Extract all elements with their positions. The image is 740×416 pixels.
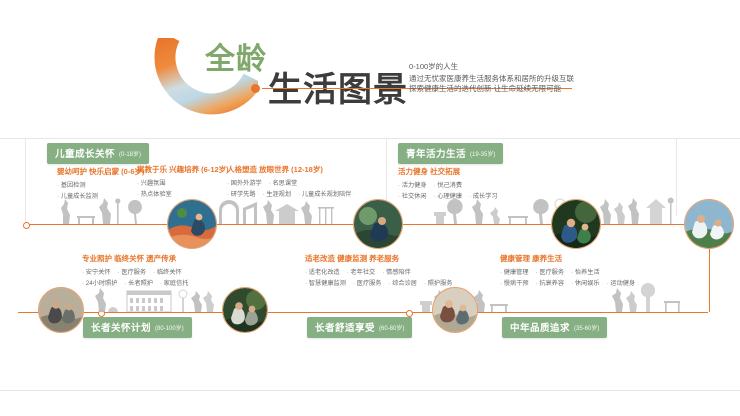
group-youth-fitness-heading: 活力健身 社交拓展	[398, 166, 505, 177]
bullet: 兴趣氛围	[137, 178, 166, 187]
bullet: 抗衰养容	[536, 278, 565, 287]
silhouette-care-building	[95, 283, 215, 312]
divider-bottom	[0, 390, 740, 391]
bullet: 怡养生活	[571, 267, 600, 276]
badge-elder-comfort-age: (60-80岁)	[379, 323, 404, 332]
silhouette-playground	[217, 198, 337, 224]
badge-youth[interactable]: 青年活力生活 (19-35岁)	[398, 143, 503, 164]
bullet: 活力健身	[398, 180, 427, 189]
badge-midlife-age: (35-60岁)	[574, 323, 599, 332]
bullet: 名思课堂	[269, 178, 298, 187]
silhouette-park-left	[55, 196, 150, 224]
bullet: 研学先路	[227, 189, 256, 198]
bullet: 老年社交	[347, 267, 376, 276]
group-elder-comfort-heading: 适老改造 健康监测 养老服务	[305, 253, 460, 264]
bullet: 情感陪伴	[382, 267, 411, 276]
bullet: 基因检测	[57, 180, 86, 189]
subtitle-line-2: 通过无忧家医康养生活服务体系和居所的升级互联	[409, 74, 639, 85]
bullet: 医疗服务	[118, 267, 147, 276]
bullet: 悦己消费	[434, 180, 463, 189]
photo-couple-run[interactable]	[684, 199, 734, 249]
timeline-node-top-left	[23, 222, 30, 229]
silhouette-midlife-group	[600, 194, 678, 224]
group-children-interest: 寓教于乐 兴趣培养 (6-12岁) 兴趣氛围 热点体验室	[137, 164, 229, 200]
badge-elder-comfort[interactable]: 长者舒适享受 (60-80岁)	[307, 317, 412, 338]
badge-elder-care-age: (80-100岁)	[155, 323, 184, 332]
divider-top	[0, 138, 740, 139]
photo-family-park[interactable]	[551, 199, 601, 249]
group-children-worldview-heading: 人格塑造 放眼世界 (12-18岁)	[227, 164, 358, 175]
timeline-bottom	[18, 312, 708, 313]
bullet: 安宁关怀	[82, 267, 111, 276]
page-title: 全龄 生活图景	[205, 44, 405, 124]
bullet: 国外外游学	[227, 178, 262, 187]
title-primary: 全龄	[205, 44, 267, 76]
badge-children-label: 儿童成长关怀	[55, 146, 115, 160]
infographic-canvas: 全龄 生活图景 0-100岁的人生 通过无忧家医康养生活服务体系和居所的升级互联…	[0, 0, 740, 416]
badge-children-age: (0-18岁)	[119, 149, 141, 158]
badge-elder-care-label: 长者关怀计划	[91, 320, 151, 334]
bullet: 健康管理	[500, 267, 529, 276]
badge-elder-care[interactable]: 长者关怀计划 (80-100岁)	[83, 317, 192, 338]
photo-youth-outdoor[interactable]	[353, 199, 403, 249]
bullet: 智慧健康监测	[305, 278, 346, 287]
badge-midlife[interactable]: 中年品质追求 (35-60岁)	[502, 317, 607, 338]
bullet: 生涯规划	[263, 189, 292, 198]
subtitle-line-3: 探索健康生活的迭代创新 让生命延续无限可能	[409, 84, 639, 95]
frame-line-left	[25, 138, 26, 228]
badge-children[interactable]: 儿童成长关怀 (0-18岁)	[47, 143, 149, 164]
group-children-infant-heading: 婴幼呵护 快乐启蒙 (0-6岁)	[57, 166, 145, 177]
bullet: 临终关怀	[153, 267, 182, 276]
title-secondary: 生活图景	[268, 71, 408, 109]
badge-youth-label: 青年活力生活	[406, 146, 466, 160]
group-elder-care-heading: 专业照护 临终关怀 遗产传承	[82, 253, 195, 264]
bullet: 综合诊居	[388, 278, 417, 287]
bullet: 社交休闲	[398, 191, 427, 200]
subtitle-block: 0-100岁的人生 通过无忧家医康养生活服务体系和居所的升级互联 探索健康生活的…	[409, 62, 639, 95]
bullet: 医疗服务	[353, 278, 382, 287]
group-midlife-heading: 健康管理 康养生活	[500, 253, 642, 264]
photo-elder-comfort-pic[interactable]	[432, 287, 478, 333]
bullet: 医疗服务	[536, 267, 565, 276]
badge-elder-comfort-label: 长者舒适享受	[315, 320, 375, 334]
timeline-node-bottom-b	[406, 310, 413, 317]
group-children-worldview: 人格塑造 放眼世界 (12-18岁) 国外外游学 名思课堂 研学先路 生涯规划 …	[227, 164, 358, 200]
photo-elder-garden[interactable]	[222, 287, 268, 333]
photo-child-play[interactable]	[167, 199, 217, 249]
group-children-interest-heading: 寓教于乐 兴趣培养 (6-12岁)	[137, 164, 229, 175]
timeline-connector-right	[709, 249, 710, 312]
badge-midlife-label: 中年品质追求	[510, 320, 570, 334]
bullet: 儿童成长规划陪伴	[298, 189, 351, 198]
bullet: 休闲娱乐	[571, 278, 600, 287]
subtitle-line-1: 0-100岁的人生	[409, 62, 639, 73]
bullet: 适老化改造	[305, 267, 340, 276]
photo-elder-walk[interactable]	[38, 287, 84, 333]
silhouette-midlife-leisure	[612, 281, 684, 312]
badge-youth-age: (19-35岁)	[470, 149, 495, 158]
